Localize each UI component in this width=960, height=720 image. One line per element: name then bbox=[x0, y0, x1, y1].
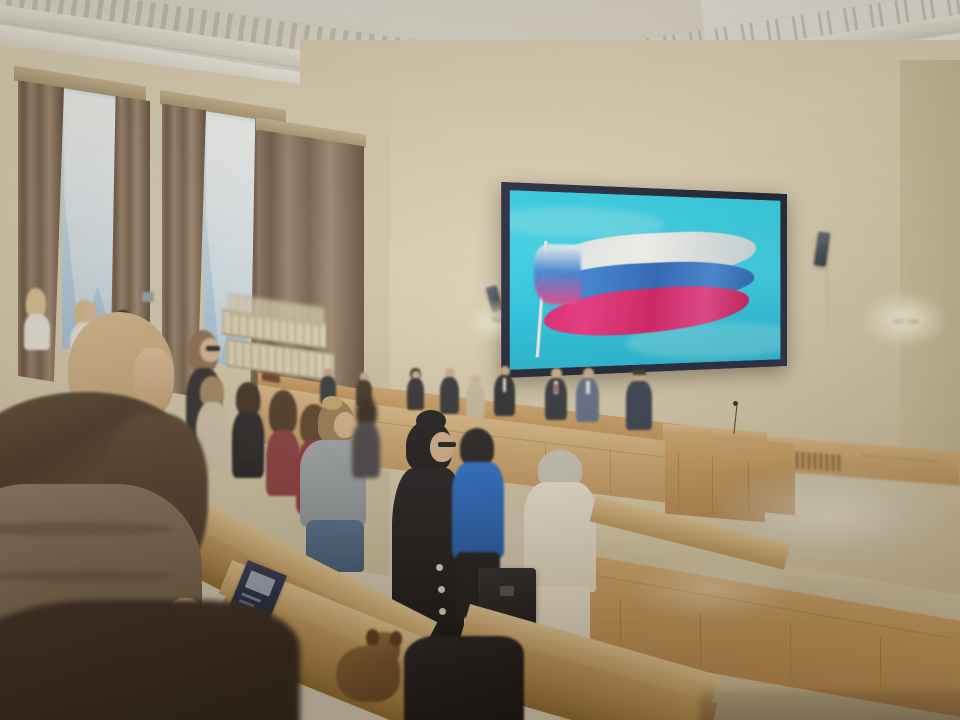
attendee-far-2 bbox=[352, 398, 380, 478]
microphone-head-icon bbox=[733, 401, 738, 406]
dog bbox=[336, 632, 406, 704]
photograph-assembly-hall: Assembly hall ceremony with Russian flag… bbox=[0, 0, 960, 720]
attendee-mid-3 bbox=[266, 390, 300, 496]
official-4 bbox=[545, 368, 567, 420]
official-1 bbox=[440, 368, 459, 414]
foreground-shadow-right bbox=[700, 690, 960, 720]
attendee-fur-coat-face bbox=[134, 348, 174, 406]
official-6 bbox=[626, 370, 652, 430]
attendee-black-foreground bbox=[404, 636, 524, 720]
hair-scrunchie bbox=[322, 396, 342, 410]
official-2 bbox=[466, 374, 485, 418]
hair-bun bbox=[416, 410, 446, 432]
foreground-shadow-left bbox=[0, 600, 300, 720]
led-video-wall bbox=[501, 182, 787, 378]
screen-content-flag bbox=[510, 190, 781, 370]
moderator bbox=[407, 368, 424, 410]
stage-light-reflection bbox=[630, 560, 790, 620]
official-5 bbox=[576, 368, 599, 422]
wall-socket-icon bbox=[142, 292, 154, 302]
official-3 bbox=[494, 366, 515, 416]
sconce-right bbox=[893, 318, 919, 325]
